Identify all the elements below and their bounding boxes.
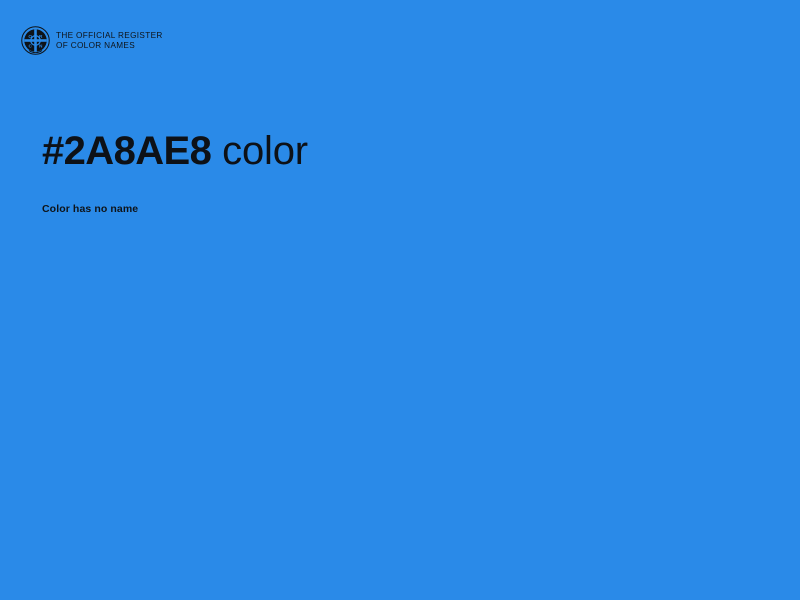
page-title-suffix: color: [211, 129, 308, 173]
color-detail-block: #2A8AE8 color Color has no name: [42, 128, 742, 216]
color-name-status: Color has no name: [42, 174, 742, 216]
brand-line-2: OF COLOR NAMES: [56, 41, 163, 51]
brand-header[interactable]: O R C N THE OFFICIAL REGISTER OF COLOR N…: [21, 26, 163, 55]
svg-text:R: R: [39, 34, 43, 40]
svg-text:N: N: [39, 43, 43, 49]
color-page: O R C N THE OFFICIAL REGISTER OF COLOR N…: [0, 0, 800, 600]
svg-text:C: C: [29, 43, 33, 49]
page-title: #2A8AE8 color: [42, 128, 742, 174]
official-register-seal-icon: O R C N: [21, 26, 50, 55]
brand-line-1: THE OFFICIAL REGISTER: [56, 31, 163, 41]
brand-wordmark: THE OFFICIAL REGISTER OF COLOR NAMES: [56, 30, 163, 52]
svg-text:O: O: [28, 34, 32, 40]
color-hex-value: #2A8AE8: [42, 129, 211, 173]
